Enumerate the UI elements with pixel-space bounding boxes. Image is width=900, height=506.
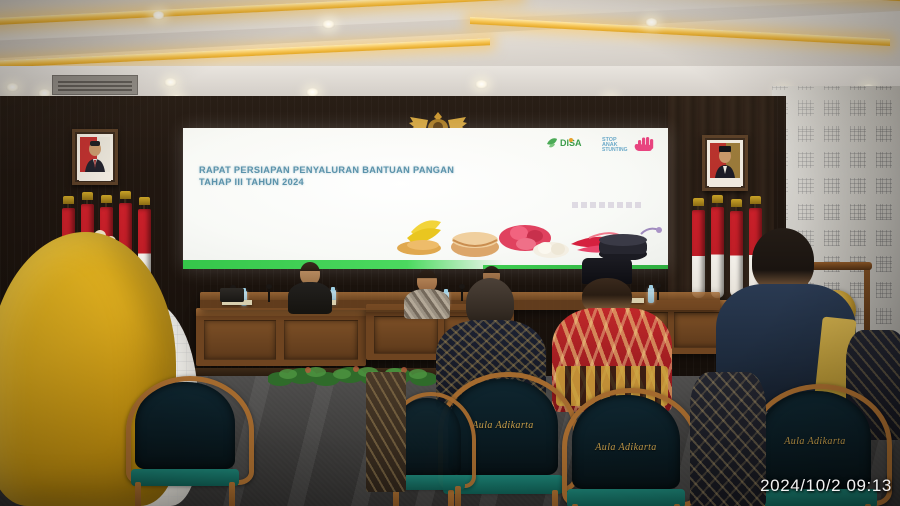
speaker-black-shirt <box>288 262 332 312</box>
draped-batik-cloth <box>366 372 406 492</box>
vice-president-portrait <box>702 135 748 191</box>
head <box>752 228 814 292</box>
disa-logo: DISA <box>544 135 590 152</box>
ceiling-downlight <box>322 20 335 29</box>
svg-text:STUNTING: STUNTING <box>602 147 628 153</box>
ceiling-downlight <box>164 78 177 87</box>
chair-embroidery-label: Aula Adikarta <box>748 436 882 447</box>
portrait-caption <box>79 174 111 181</box>
slide-title: RAPAT PERSIAPAN PENYALURAN BANTUAN PANGA… <box>199 164 529 188</box>
torso <box>288 282 332 314</box>
laptop-screen <box>220 288 244 302</box>
ceiling <box>0 0 900 104</box>
attendee-right-batik-overlay <box>690 372 766 506</box>
indonesian-flag <box>692 204 705 300</box>
chair-right-center: Aula Adikarta <box>562 388 690 506</box>
slide-accent-bar <box>183 260 503 269</box>
camera-timestamp: 2024/10/2 09:13 <box>760 476 892 496</box>
slide-title-line-1: RAPAT PERSIAPAN PENYALURAN BANTUAN PANGA… <box>199 164 529 176</box>
ceiling-downlight <box>645 18 658 27</box>
desk-microphone <box>268 287 270 302</box>
projection-screen: DISA STOP ANAK STUNTING RAPAT PERSI <box>183 128 668 269</box>
meeting-hall-photograph: DISA STOP ANAK STUNTING RAPAT PERSI <box>0 0 900 506</box>
attendee-red-batik <box>552 258 672 408</box>
head-table-left <box>196 308 366 366</box>
stop-stunting-logo: STOP ANAK STUNTING <box>600 134 656 153</box>
ceiling-downlight <box>475 80 488 89</box>
chair-embroidery-label: Aula Adikarta <box>562 442 690 453</box>
president-portrait <box>72 129 118 185</box>
ceiling-downlight <box>152 11 165 20</box>
portrait-caption <box>709 180 741 187</box>
slide-title-line-2: TAHAP III TAHUN 2024 <box>199 176 529 188</box>
air-conditioner-vent <box>52 75 138 95</box>
ceiling-downlight <box>6 83 19 92</box>
stage-plants <box>268 362 443 388</box>
slide-food-imagery <box>393 198 668 260</box>
chair-left <box>126 376 244 484</box>
